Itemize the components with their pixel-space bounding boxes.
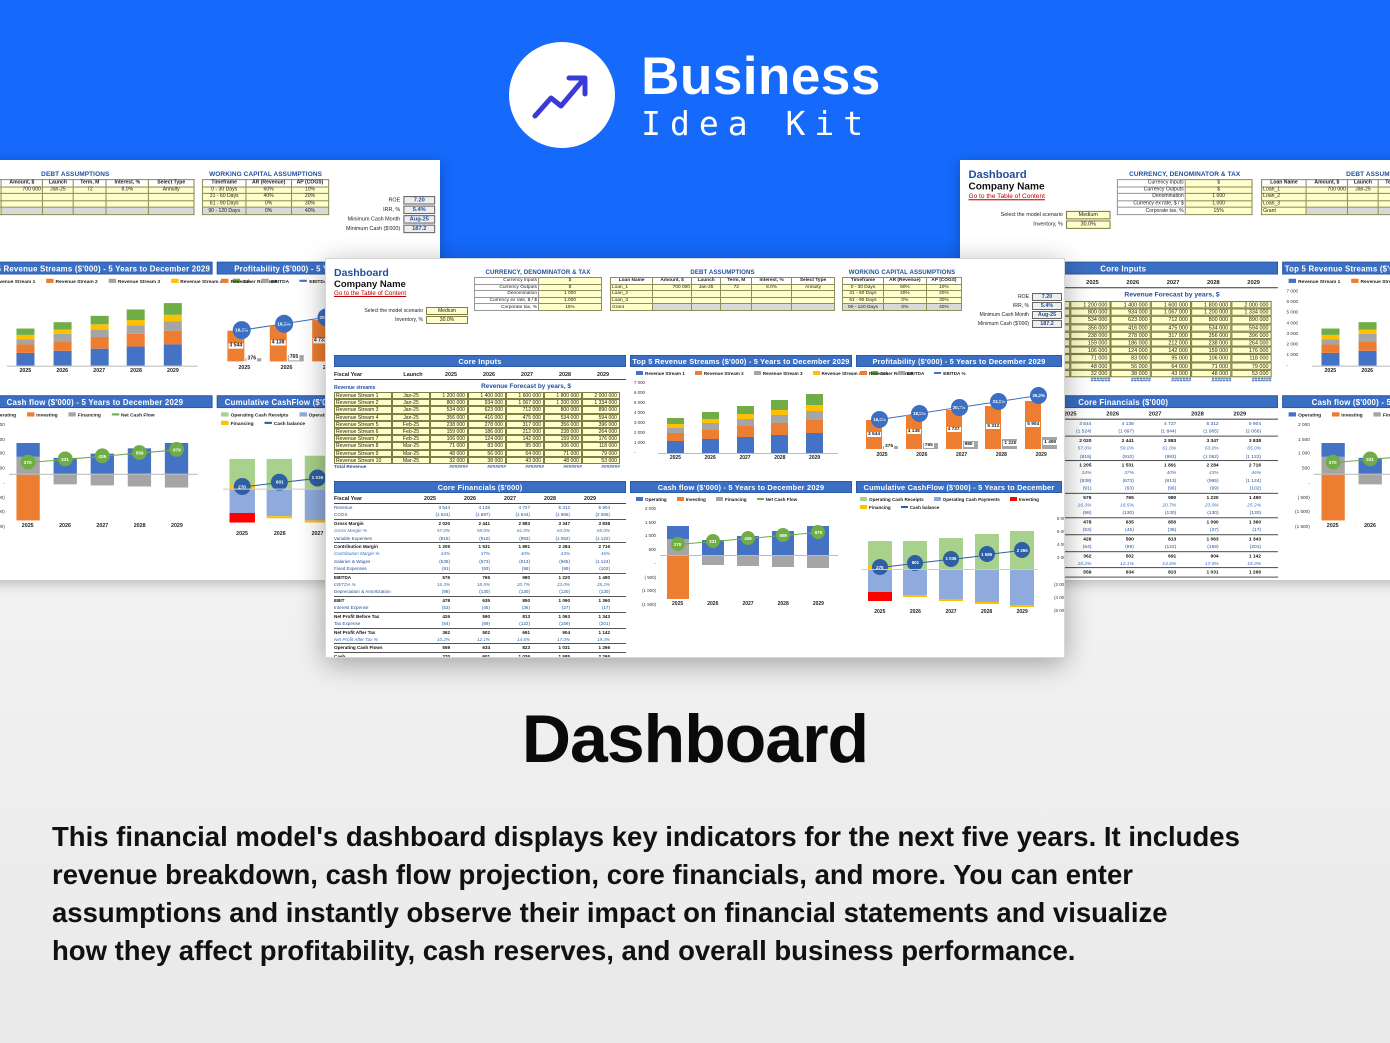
stream-value[interactable]: 264 000 (1231, 339, 1271, 347)
debt-cell[interactable]: Grant (611, 304, 653, 311)
stream-value[interactable]: 48 000 (1070, 362, 1110, 370)
table-row: Interest Expense(53)(45)(36)(27)(17) (334, 604, 626, 611)
wc-cell[interactable]: 61 - 90 Days (843, 297, 884, 304)
inventory-input[interactable]: 30.0% (426, 316, 468, 324)
debt-cell[interactable] (148, 194, 194, 201)
core-inputs-heading: Core Inputs (334, 355, 626, 367)
stream-value[interactable]: 56 000 (468, 450, 506, 457)
stream-launch[interactable]: Jan-25 (392, 399, 430, 406)
wc-cell[interactable]: 90 - 120 Days (843, 304, 884, 311)
stream-value[interactable]: 1 200 000 (1191, 309, 1231, 317)
legend-label: Investing (1019, 497, 1039, 502)
stream-name[interactable]: Revenue Stream 5 (334, 421, 392, 428)
stream-value[interactable]: 1 400 000 (1111, 301, 1151, 309)
ebitda-value-label: 980 (964, 442, 974, 447)
stream-name[interactable]: Revenue Stream 8 (334, 442, 392, 449)
stream-value[interactable]: 356 000 (1191, 331, 1231, 339)
financial-line-label: Depreciation & Amortization (334, 588, 410, 595)
stream-value[interactable]: 53 000 (1231, 370, 1271, 378)
stream-value[interactable]: 106 000 (430, 435, 468, 442)
stream-value[interactable]: 1 800 000 (1191, 301, 1231, 309)
stream-value[interactable]: 534 000 (1191, 324, 1231, 332)
stream-name[interactable]: Revenue Stream 1 (334, 392, 392, 399)
financing-bar (737, 555, 759, 566)
stream-value[interactable]: 594 000 (582, 414, 620, 421)
y-tick: 4 000 (1286, 320, 1298, 325)
stream-name[interactable]: Revenue Stream 4 (334, 414, 392, 421)
bar-segment (127, 334, 145, 347)
stream-value[interactable]: 800 000 (1191, 316, 1231, 324)
stream-value[interactable]: 83 000 (1111, 354, 1151, 362)
stream-value[interactable]: 238 000 (430, 421, 468, 428)
debt-cell[interactable] (792, 291, 835, 298)
stream-value[interactable]: 1 334 000 (1231, 309, 1271, 317)
stream-value[interactable]: 48 000 (544, 457, 582, 464)
bar-segment (806, 433, 823, 453)
currency-value[interactable]: $ (539, 284, 602, 291)
stream-value[interactable]: 176 000 (1231, 347, 1271, 355)
stream-launch[interactable]: Jan-25 (392, 414, 430, 421)
stream-value[interactable]: 934 000 (468, 399, 506, 406)
financial-value: 502 (450, 629, 490, 636)
debt-cell[interactable] (1306, 208, 1347, 215)
debt-cell[interactable] (148, 201, 194, 208)
debt-cell[interactable] (1306, 201, 1347, 208)
stream-value[interactable]: 475 000 (1151, 324, 1191, 332)
bar-segment (1358, 334, 1376, 341)
wc-cell[interactable]: 40% (883, 291, 926, 298)
stream-value[interactable]: 534 000 (1070, 316, 1110, 324)
financial-value: (36) (490, 604, 530, 611)
bar-segment (806, 420, 823, 433)
stream-value[interactable]: 56 000 (1111, 362, 1151, 370)
currency-value[interactable]: $ (1185, 187, 1252, 194)
debt-cell[interactable] (1379, 194, 1390, 201)
legend-label: Net Cash Flow (766, 497, 798, 502)
debt-cell[interactable] (106, 201, 148, 208)
debt-cell[interactable] (1379, 208, 1390, 215)
debt-cell[interactable] (74, 194, 107, 201)
stream-value[interactable]: 64 000 (1151, 362, 1191, 370)
debt-cell[interactable] (1306, 194, 1347, 201)
wc-cell[interactable]: 0% (883, 304, 926, 311)
wc-cell[interactable]: 40% (246, 194, 291, 201)
currency-value[interactable]: 1.000 (1185, 201, 1252, 208)
financial-value: (673) (1091, 477, 1133, 485)
currency-value[interactable]: 15% (539, 304, 602, 311)
currency-value[interactable]: 1 000 (539, 291, 602, 298)
stream-name[interactable]: Revenue Stream 2 (334, 399, 392, 406)
stream-name[interactable]: Revenue Stream 6 (334, 428, 392, 435)
wc-cell[interactable]: 0% (246, 208, 291, 215)
stream-value[interactable]: 534 000 (430, 406, 468, 413)
stream-value[interactable]: 1 600 000 (506, 392, 544, 399)
debt-cell[interactable] (1347, 208, 1378, 215)
stream-value[interactable]: 416 000 (1111, 324, 1151, 332)
stream-value[interactable]: 176 000 (582, 435, 620, 442)
debt-cell[interactable] (721, 291, 752, 298)
wc-cell[interactable]: 10% (926, 284, 961, 291)
bar-segment (667, 433, 684, 441)
financial-value: (1 697) (450, 511, 490, 518)
table-row: Revenue3 5444 1384 7275 3125 904 (334, 504, 626, 511)
debt-cell[interactable] (792, 297, 835, 304)
legend-label: Revenue (869, 371, 888, 376)
wc-cell[interactable]: 31 - 60 Days (843, 291, 884, 298)
stream-value[interactable]: 38 000 (1111, 370, 1151, 378)
wc-cell[interactable]: 40% (291, 208, 328, 215)
debt-cell[interactable] (752, 304, 792, 311)
scenario-select[interactable]: Medium (1066, 211, 1111, 219)
financing-bar (772, 555, 794, 567)
stream-value[interactable]: 1 334 000 (582, 399, 620, 406)
stream-value[interactable]: 890 000 (582, 406, 620, 413)
stream-value[interactable]: 48 000 (430, 450, 468, 457)
year-header: 2026 (1113, 280, 1153, 286)
stream-value[interactable]: 159 000 (430, 428, 468, 435)
debt-cell[interactable] (1, 194, 42, 201)
stream-value[interactable]: 83 000 (468, 442, 506, 449)
stream-value[interactable]: 712 000 (1151, 316, 1191, 324)
stream-value[interactable]: 416 000 (468, 414, 506, 421)
table-row: Revenue Stream 8Mar-2571 00083 00095 000… (334, 442, 626, 449)
stream-value[interactable]: 38 000 (468, 457, 506, 464)
currency-value[interactable]: 1 000 (1185, 194, 1252, 201)
stream-value[interactable]: 800 000 (1070, 309, 1110, 317)
currency-row: Currency ex rate, $ / $1.000 (1117, 201, 1252, 208)
stream-value[interactable]: 2 000 000 (582, 392, 620, 399)
stream-value[interactable]: 79 000 (1231, 362, 1271, 370)
year-header: 2026 (1091, 411, 1133, 417)
financial-value: 4 727 (490, 504, 530, 511)
wc-cell[interactable]: 60% (883, 284, 926, 291)
legend-label: Revenue Stream 3 (763, 371, 803, 376)
debt-cell[interactable] (653, 291, 692, 298)
debt-cell[interactable] (1379, 201, 1390, 208)
table-row: EBITDA %16.3%18.5%20.7%23.0%25.2% (334, 581, 626, 588)
stream-value[interactable]: 238 000 (544, 428, 582, 435)
stream-value[interactable]: 278 000 (468, 421, 506, 428)
stream-value[interactable]: 2 000 000 (1231, 301, 1271, 309)
stream-value[interactable]: 159 000 (1191, 347, 1231, 355)
debt-cell[interactable]: 8.0% (752, 284, 792, 291)
debt-cell[interactable]: Annuity (148, 187, 194, 194)
total-revenue-value: ####### (1231, 378, 1271, 383)
financing-bar (128, 474, 151, 487)
stream-launch[interactable]: Mar-25 (392, 442, 430, 449)
financial-line-label: Salaries & Wages (334, 558, 410, 565)
x-tick: 2026 (47, 368, 78, 374)
stream-value[interactable]: 32 000 (1070, 370, 1110, 378)
wc-cell[interactable]: 0% (883, 297, 926, 304)
debt-cell[interactable] (42, 208, 73, 215)
debt-cell[interactable] (792, 304, 835, 311)
table-of-contents-link[interactable]: Go to the Table of Content (968, 193, 1044, 200)
financial-value: (813) (1134, 477, 1176, 485)
financial-value: 980 (1134, 494, 1176, 502)
kpi-row: IRR, %5.4% (333, 206, 435, 214)
debt-cell[interactable] (148, 208, 194, 215)
debt-cell[interactable] (721, 304, 752, 311)
stream-value[interactable]: 159 000 (544, 435, 582, 442)
financial-value: (45) (450, 604, 490, 611)
stream-value[interactable]: 1 067 000 (506, 399, 544, 406)
wc-cell[interactable]: 90 - 120 Days (202, 208, 245, 215)
debt-cell[interactable] (752, 291, 792, 298)
stream-value[interactable]: 71 000 (430, 442, 468, 449)
scenario-select[interactable]: Medium (426, 307, 468, 315)
stream-value[interactable]: 186 000 (1111, 339, 1151, 347)
stream-value[interactable]: 53 000 (582, 457, 620, 464)
debt-cell[interactable] (106, 208, 148, 215)
table-row: Revenue Stream 2Jan-25800 000934 0001 06… (334, 399, 626, 406)
wc-cell[interactable]: 20% (291, 194, 328, 201)
stream-value[interactable]: 623 000 (468, 406, 506, 413)
debt-cell[interactable] (653, 304, 692, 311)
stream-launch[interactable]: Mar-25 (392, 457, 430, 464)
debt-cell[interactable]: Loan_2 (611, 291, 653, 298)
stream-value[interactable]: 396 000 (582, 421, 620, 428)
stream-value[interactable]: 317 000 (1151, 331, 1191, 339)
currency-value[interactable]: 1.000 (539, 297, 602, 304)
legend-label: Operating Cash Receipts (231, 412, 289, 417)
debt-heading: DEBT ASSUMPTIONS (610, 269, 835, 276)
financing-bar (975, 602, 999, 604)
debt-cell[interactable]: Loan_1 (611, 284, 653, 291)
stream-value[interactable]: 1 800 000 (544, 392, 582, 399)
debt-cell[interactable] (691, 291, 720, 298)
stream-value[interactable]: 71 000 (1191, 362, 1231, 370)
legend-swatch (695, 371, 702, 374)
x-tick: 2028 (121, 368, 152, 374)
stream-value[interactable]: 186 000 (468, 428, 506, 435)
wc-cell[interactable]: 60% (246, 187, 291, 194)
stream-launch[interactable]: Mar-25 (392, 450, 430, 457)
wc-column-header: AR (Revenue) (883, 278, 926, 285)
debt-cell[interactable]: 72 (1379, 187, 1390, 194)
debt-cell[interactable]: Loan_3 (1262, 201, 1307, 208)
stream-value[interactable]: 278 000 (1111, 331, 1151, 339)
currency-value[interactable]: $ (539, 278, 602, 285)
stream-value[interactable]: 1 200 000 (430, 392, 468, 399)
y-tick: 2 000 (634, 430, 645, 435)
bar-segment (771, 400, 788, 410)
stream-value[interactable]: 594 000 (1231, 324, 1271, 332)
stream-launch[interactable]: Feb-25 (392, 421, 430, 428)
debt-cell[interactable]: Jan-25 (691, 284, 720, 291)
stream-value[interactable]: 32 000 (430, 457, 468, 464)
debt-cell[interactable]: Jan-25 (1347, 187, 1378, 194)
wc-cell[interactable]: 0 - 30 Days (202, 187, 245, 194)
debt-cell[interactable]: 72 (74, 187, 107, 194)
table-row: Depreciation & Amortization(98)(130)(130… (334, 588, 626, 595)
stream-value[interactable]: 356 000 (430, 414, 468, 421)
debt-cell[interactable]: 700 000 (1, 187, 42, 194)
stream-value[interactable]: 95 000 (506, 442, 544, 449)
debt-cell[interactable] (1, 208, 42, 215)
debt-cell[interactable]: Grant (1262, 208, 1307, 215)
bar-segment (1358, 322, 1376, 330)
stream-value[interactable]: 1 067 000 (1151, 309, 1191, 317)
wc-cell[interactable]: 20% (926, 291, 961, 298)
stream-value[interactable]: 71 000 (1070, 354, 1110, 362)
sheet-title: Dashboard (968, 168, 1044, 181)
financial-value: (2 066) (570, 511, 610, 518)
legend-label: Financing (231, 420, 254, 425)
debt-cell[interactable] (42, 201, 73, 208)
x-tick: 2025 (10, 368, 41, 374)
wc-cell[interactable]: 30% (291, 201, 328, 208)
stream-name[interactable]: Revenue Stream 7 (334, 435, 392, 442)
stream-value[interactable]: 106 000 (1070, 347, 1110, 355)
wc-cell[interactable]: 30% (926, 297, 961, 304)
debt-cell[interactable]: Jan-25 (42, 187, 73, 194)
stream-value[interactable]: 118 000 (1231, 354, 1271, 362)
stream-value[interactable]: 238 000 (1070, 331, 1110, 339)
financial-value: 61.0% (490, 527, 530, 534)
core-financials-heading: Core Financials ($'000) (334, 481, 626, 493)
debt-cell[interactable]: 700 000 (653, 284, 692, 291)
stream-value[interactable]: 79 000 (582, 450, 620, 457)
debt-cell[interactable] (691, 304, 720, 311)
stream-value[interactable]: 48 000 (1191, 370, 1231, 378)
stream-launch[interactable]: Jan-25 (392, 406, 430, 413)
debt-cell[interactable]: Annuity (792, 284, 835, 291)
wc-cell[interactable]: 31 - 60 Days (202, 194, 245, 201)
currency-value[interactable]: $ (1185, 180, 1252, 187)
legend-item: Operating (0, 412, 16, 417)
debt-cell[interactable]: Loan_3 (611, 297, 653, 304)
stream-launch[interactable]: Feb-25 (392, 428, 430, 435)
stream-value[interactable]: 212 000 (1151, 339, 1191, 347)
stream-value[interactable]: 1 400 000 (468, 392, 506, 399)
stream-value[interactable]: 159 000 (1070, 339, 1110, 347)
wc-cell[interactable]: 61 - 90 Days (202, 201, 245, 208)
stream-value[interactable]: 1 200 000 (1070, 301, 1110, 309)
debt-cell[interactable] (106, 194, 148, 201)
stream-value[interactable]: 64 000 (506, 450, 544, 457)
financial-value: 426 (410, 613, 450, 620)
debt-cell[interactable] (752, 297, 792, 304)
stream-launch[interactable]: Jan-25 (392, 392, 430, 399)
kpi-value: Aug-25 (403, 215, 435, 223)
debt-cell[interactable]: Loan_2 (1262, 194, 1307, 201)
stream-value[interactable]: 1 200 000 (544, 399, 582, 406)
financial-value: (1 122) (1219, 452, 1261, 460)
debt-cell[interactable]: 72 (721, 284, 752, 291)
bar-segment (1358, 351, 1376, 366)
debt-cell[interactable] (1347, 201, 1378, 208)
debt-cell[interactable]: 8.0% (106, 187, 148, 194)
stream-value[interactable]: 396 000 (1231, 331, 1271, 339)
bar-segment (667, 418, 684, 425)
y-tick: 2 000 (0, 422, 5, 427)
legend-swatch (1351, 279, 1358, 283)
stream-name[interactable]: Revenue Stream 9 (334, 450, 392, 457)
financial-value: 362 (410, 629, 450, 636)
wc-cell[interactable]: 40% (926, 304, 961, 311)
stream-name[interactable]: Revenue Stream 10 (334, 457, 392, 464)
stream-value[interactable]: 212 000 (506, 428, 544, 435)
legend-item: Investing (1332, 412, 1363, 417)
stream-value[interactable]: 238 000 (1191, 339, 1231, 347)
stream-value[interactable]: 1 600 000 (1151, 301, 1191, 309)
table-of-contents-link[interactable]: Go to the Table of Content (334, 290, 406, 297)
x-tick: 2026 (903, 452, 941, 458)
y-tick: - (1286, 362, 1288, 367)
stream-value[interactable]: 712 000 (506, 406, 544, 413)
currency-value[interactable]: 15% (1185, 208, 1252, 215)
wc-cell[interactable]: 0% (246, 201, 291, 208)
bar-segment (771, 410, 788, 415)
financing-bar (53, 474, 76, 485)
stream-value[interactable]: 534 000 (544, 414, 582, 421)
financial-value: (89) (1091, 543, 1133, 551)
stream-value[interactable]: 43 000 (506, 457, 544, 464)
stream-value[interactable]: 800 000 (544, 406, 582, 413)
table-row: Grant (611, 304, 835, 311)
stream-value[interactable]: 124 000 (468, 435, 506, 442)
dashboard-preview-main[interactable]: DashboardCompany NameGo to the Table of … (325, 258, 1065, 658)
debt-cell[interactable] (691, 297, 720, 304)
revenue-value-label: 3 544 (867, 432, 881, 437)
stream-value[interactable]: 356 000 (544, 421, 582, 428)
stream-value[interactable]: 890 000 (1231, 316, 1271, 324)
table-row: Loan_3 (611, 297, 835, 304)
debt-cell[interactable] (1, 201, 42, 208)
debt-cell[interactable] (74, 201, 107, 208)
stream-value[interactable]: 106 000 (544, 442, 582, 449)
inventory-input[interactable]: 30.0% (1066, 220, 1111, 228)
kpi-label: Minimum Cash Month (979, 312, 1029, 318)
debt-cell[interactable]: 700 000 (1306, 187, 1347, 194)
stream-value[interactable]: 356 000 (1070, 324, 1110, 332)
stream-value[interactable]: 142 000 (1151, 347, 1191, 355)
financial-value: (1 965) (1176, 428, 1218, 436)
stream-launch[interactable]: Feb-25 (392, 435, 430, 442)
stream-value[interactable]: 475 000 (506, 414, 544, 421)
stream-value[interactable]: 118 000 (582, 442, 620, 449)
stream-value[interactable]: 43 000 (1151, 370, 1191, 378)
revenue-value-label: 4 138 (907, 429, 921, 434)
debt-cell[interactable] (721, 297, 752, 304)
debt-cell[interactable] (1347, 194, 1378, 201)
stream-value[interactable]: 106 000 (1191, 354, 1231, 362)
stream-value[interactable]: 124 000 (1111, 347, 1151, 355)
stream-value[interactable]: 317 000 (506, 421, 544, 428)
bar-segment (90, 316, 108, 325)
stream-value[interactable]: 800 000 (430, 399, 468, 406)
table-row: 0 - 30 Days60%10% (843, 284, 962, 291)
stream-value[interactable]: 71 000 (544, 450, 582, 457)
debt-cell[interactable] (42, 194, 73, 201)
year-header: 2029 (584, 372, 622, 378)
wc-cell[interactable]: 0 - 30 Days (843, 284, 884, 291)
brand-name-primary: Business (641, 50, 881, 103)
financial-line-label: Cash (334, 653, 410, 658)
stream-name[interactable]: Revenue Stream 3 (334, 406, 392, 413)
debt-cell[interactable] (653, 297, 692, 304)
stream-value[interactable]: 623 000 (1111, 316, 1151, 324)
legend-item: Revenue Stream 3 (108, 278, 160, 283)
debt-cell[interactable]: Loan_1 (1262, 187, 1307, 194)
stream-value[interactable]: 264 000 (582, 428, 620, 435)
stream-value[interactable]: 142 000 (506, 435, 544, 442)
stream-value[interactable]: 934 000 (1111, 309, 1151, 317)
wc-cell[interactable]: 10% (291, 187, 328, 194)
stream-value[interactable]: 95 000 (1151, 354, 1191, 362)
debt-cell[interactable] (74, 208, 107, 215)
